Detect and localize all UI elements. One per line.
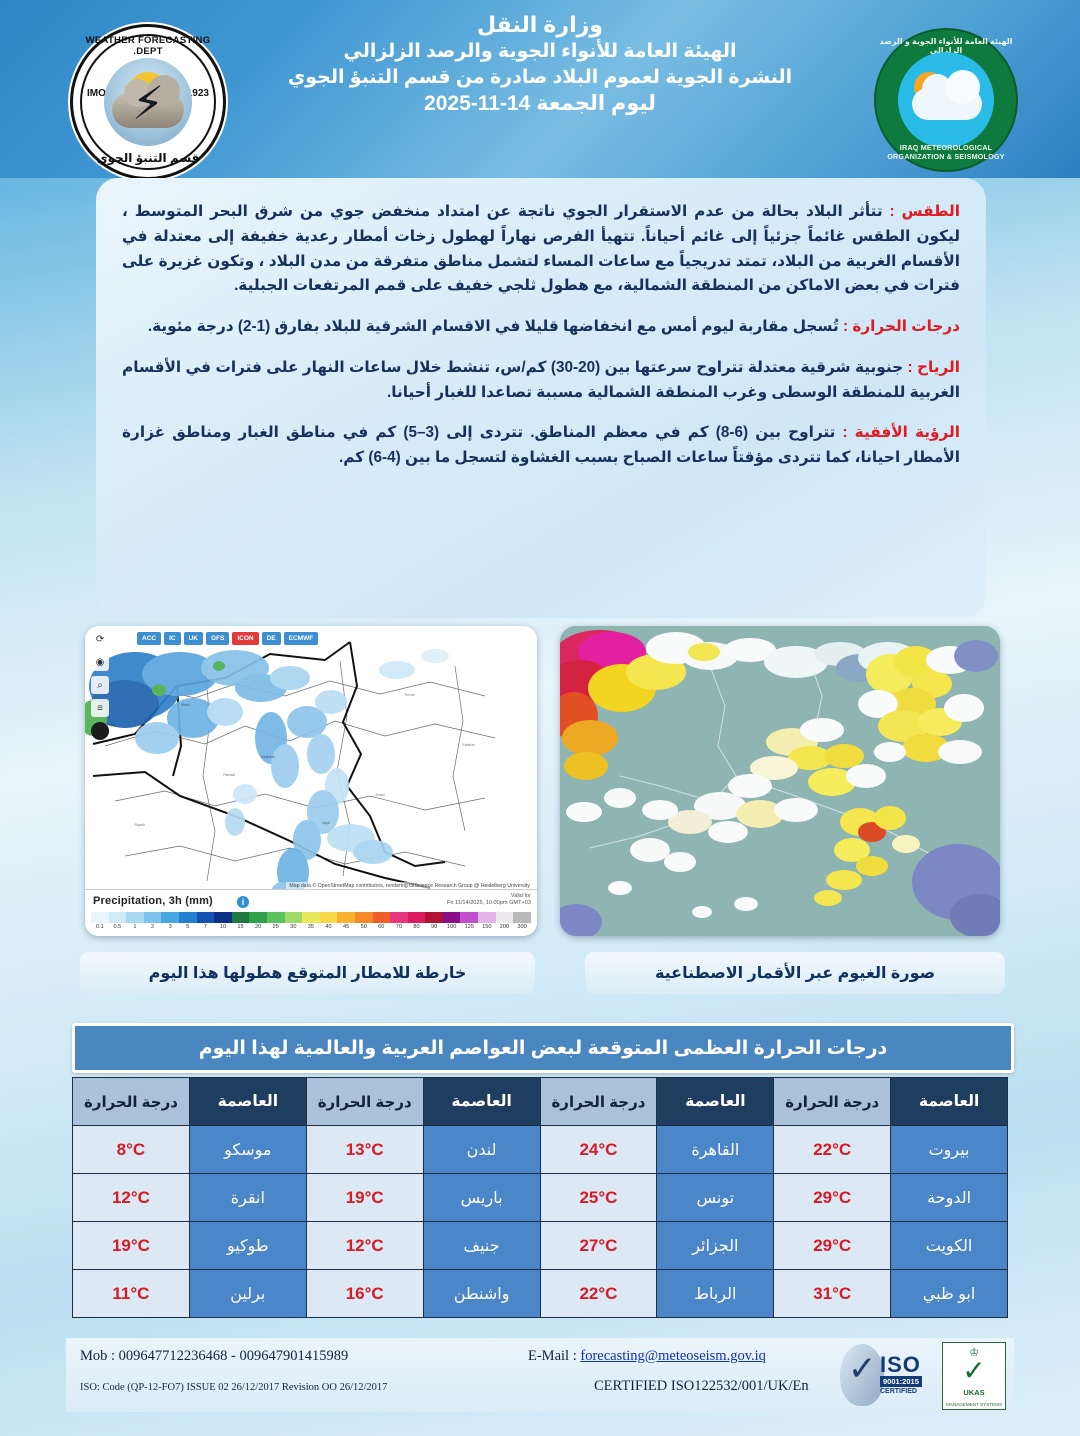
ministry-title: وزارة النقل [230, 10, 850, 39]
satellite-cloud-image[interactable] [560, 626, 1000, 936]
city-cell: ابو ظبي [891, 1270, 1008, 1318]
forecast-wind-label: الرياح : [908, 359, 961, 376]
legend-tick: 200 [496, 924, 514, 934]
refresh-icon[interactable]: ⟳ [91, 630, 109, 648]
model-button-icon[interactable]: ICON [232, 632, 258, 645]
lightning-icon: ⚡ [132, 80, 164, 126]
city-cell: الجزائر [657, 1222, 774, 1270]
model-button-ecmwf[interactable]: ECMWF [284, 632, 319, 645]
legend-tick: 1 [126, 924, 144, 934]
legend-tick: 80 [408, 924, 426, 934]
seal-arc-top-text: WEATHER FORECASTING DEPT. [73, 35, 223, 57]
svg-text:Riyadh: Riyadh [134, 823, 145, 827]
temp-cell: 16°C [306, 1270, 423, 1318]
temp-cell: 29°C [774, 1222, 891, 1270]
temp-cell: 22°C [774, 1126, 891, 1174]
page-header: WEATHER FORECASTING DEPT. IMOS 1923 ⚡ قس… [0, 0, 1080, 178]
legend-tick: 25 [267, 924, 285, 934]
header-city-2: العاصمة [657, 1078, 774, 1126]
legend-tick: 45 [337, 924, 355, 934]
iso-code-line: ISO: Code (QP-12-FO7) ISSUE 02 26/12/201… [80, 1382, 387, 1393]
contact-email-line: E-Mail : forecasting@meteoseism.gov.iq [528, 1348, 766, 1365]
legend-tick: 20 [249, 924, 267, 934]
sun-cloud-icon [898, 52, 994, 148]
city-cell: الدوحة [891, 1174, 1008, 1222]
svg-text:Mosul: Mosul [181, 703, 190, 707]
city-cell: القاهرة [657, 1126, 774, 1174]
satellite-image-graphic [560, 626, 1000, 936]
ukas-accreditation-badge: ♔ ✓ UKAS MANAGEMENT SYSTEMS [942, 1342, 1006, 1410]
city-cell: انقرة [189, 1174, 306, 1222]
temp-cell: 29°C [774, 1174, 891, 1222]
marker-icon[interactable] [91, 722, 109, 740]
iso-certification-badge: ✓ ISO 9001:2015 CERTIFIED [840, 1344, 936, 1406]
header-temp-1: درجة الحرارة [774, 1078, 891, 1126]
legend-tick: 30 [285, 924, 303, 934]
iso-badge-name: ISO [880, 1352, 921, 1378]
city-cell: واشنطن [423, 1270, 540, 1318]
city-cell: لندن [423, 1126, 540, 1174]
svg-text:Ramadi: Ramadi [223, 773, 235, 777]
svg-text:Najaf: Najaf [322, 821, 330, 825]
header-title-block: وزارة النقل الهيئة العامة للأنواء الجوية… [230, 10, 850, 118]
legend-tick: 40 [320, 924, 338, 934]
legend-tick: 5 [179, 924, 197, 934]
legend-tick: 70 [390, 924, 408, 934]
forecast-weather-label: الطقس : [890, 203, 961, 220]
satellite-image-canvas [560, 626, 1000, 936]
weather-forecasting-dept-logo: WEATHER FORECASTING DEPT. IMOS 1923 ⚡ قس… [70, 24, 226, 180]
legend-tick: 7 [197, 924, 215, 934]
svg-text:Ahvaz: Ahvaz [376, 793, 386, 797]
svg-text:Tehran: Tehran [405, 693, 415, 697]
temp-cell: 31°C [774, 1270, 891, 1318]
city-cell: طوكيو [189, 1222, 306, 1270]
forecast-visibility-label: الرؤية الأفقية : [842, 424, 960, 441]
model-button-ic[interactable]: IC [164, 632, 181, 645]
header-temp-4: درجة الحرارة [73, 1078, 190, 1126]
legend-tick: 100 [443, 924, 461, 934]
table-row: الكويت 29°C الجزائر 27°C جنيف 12°C طوكيو… [73, 1222, 1008, 1270]
header-city-4: العاصمة [189, 1078, 306, 1126]
precipitation-caption: خارطة للامطار المتوقع هطولها هذا اليوم [80, 952, 535, 994]
model-button-gfs[interactable]: GFS [206, 632, 229, 645]
temp-cell: 12°C [306, 1222, 423, 1270]
legend-scale-ticks: 0.1 0.5 1 2 3 5 7 10 15 20 25 30 35 40 4… [91, 924, 531, 934]
legend-tick: 125 [460, 924, 478, 934]
valid-time: Fri 11/14/2025, 10:00pm GMT+03 [447, 900, 531, 906]
svg-text:Esfahan: Esfahan [463, 743, 476, 747]
table-header-row: العاصمة درجة الحرارة العاصمة درجة الحرار… [73, 1078, 1008, 1126]
header-temp-2: درجة الحرارة [540, 1078, 657, 1126]
legend-color-bar [91, 912, 531, 923]
header-city-3: العاصمة [423, 1078, 540, 1126]
city-cell: الكويت [891, 1222, 1008, 1270]
city-cell: بيروت [891, 1126, 1008, 1174]
forecast-visibility-text: تتراوح بين (6-8) كم في معظم المناطق. تتر… [122, 424, 960, 466]
forecast-wind-paragraph: الرياح : جنوبية شرقية معتدلة تتراوح سرعت… [96, 356, 986, 406]
temp-cell: 27°C [540, 1222, 657, 1270]
temperature-table-banner: درجات الحرارة العظمى المتوقعة لبعض العوا… [72, 1023, 1014, 1073]
bulletin-subtitle: النشرة الجوية لعموم البلاد صادرة من قسم … [230, 65, 850, 90]
temp-cell: 24°C [540, 1126, 657, 1174]
city-cell: جنيف [423, 1222, 540, 1270]
temp-cell: 11°C [73, 1270, 190, 1318]
temp-cell: 19°C [306, 1174, 423, 1222]
capital-temperatures-table: العاصمة درجة الحرارة العاصمة درجة الحرار… [72, 1077, 1008, 1318]
precipitation-map[interactable]: AleppoMosul BaghdadNajaf BasraTehran Esf… [85, 626, 537, 936]
table-row: ابو ظبي 31°C الرباط 22°C واشنطن 16°C برل… [73, 1270, 1008, 1318]
forecast-visibility-paragraph: الرؤية الأفقية : تتراوح بين (6-8) كم في … [96, 421, 986, 471]
temp-cell: 19°C [73, 1222, 190, 1270]
map-side-toolbar[interactable]: ⟳ ◉ ⌕ ≡ [89, 630, 111, 740]
legend-tick: 3 [161, 924, 179, 934]
forecast-temperature-text: تُسجل مقاربة ليوم أمس مع انخفاضها قليلا … [148, 318, 843, 335]
legend-tick: 0.1 [91, 924, 109, 934]
email-label: E-Mail : [528, 1348, 580, 1364]
svg-text:Baghdad: Baghdad [261, 755, 275, 759]
iraq-meteorological-organization-logo: الهيئة العامة للأنواء الجوية و الرصد الز… [874, 28, 1018, 172]
legend-tick: 15 [232, 924, 250, 934]
email-link[interactable]: forecasting@meteoseism.gov.iq [580, 1348, 766, 1364]
city-cell: برلين [189, 1270, 306, 1318]
legend-title: Precipitation, 3h (mm) [93, 895, 213, 907]
precipitation-map-canvas[interactable]: AleppoMosul BaghdadNajaf BasraTehran Esf… [85, 626, 537, 936]
forecast-weather-text: تتأثر البلاد بحالة من عدم الاستقرار الجو… [122, 203, 960, 294]
table-row: بيروت 22°C القاهرة 24°C لندن 13°C موسكو … [73, 1126, 1008, 1174]
temp-cell: 22°C [540, 1270, 657, 1318]
temp-cell: 25°C [540, 1174, 657, 1222]
header-temp-3: درجة الحرارة [306, 1078, 423, 1126]
checkmark-icon: ✓ [848, 1352, 877, 1386]
legend-valid-time: Valid for Fri 11/14/2025, 10:00pm GMT+03 [447, 893, 531, 907]
valid-label: Valid for [511, 893, 531, 899]
legend-tick: 0.5 [109, 924, 127, 934]
location-icon[interactable]: ◉ [91, 653, 109, 671]
model-button-uk[interactable]: UK [184, 632, 203, 645]
contact-mobile: Mob : 009647712236468 - 009647901415989 [80, 1348, 348, 1365]
iso-certified-line: CERTIFIED ISO122532/001/UK/En [594, 1378, 809, 1395]
header-city-1: العاصمة [891, 1078, 1008, 1126]
forecast-temperature-label: درجات الحرارة : [843, 318, 960, 335]
ukas-sublabel: MANAGEMENT SYSTEMS [943, 1402, 1005, 1407]
forecast-temperature-paragraph: درجات الحرارة : تُسجل مقاربة ليوم أمس مع… [96, 315, 986, 340]
authority-title: الهيئة العامة للأنواء الجوية والرصد الزل… [230, 39, 850, 64]
iso-badge-certified: CERTIFIED [880, 1388, 917, 1395]
legend-tick: 2 [144, 924, 162, 934]
city-cell: الرباط [657, 1270, 774, 1318]
bulletin-page: WEATHER FORECASTING DEPT. IMOS 1923 ⚡ قس… [0, 0, 1080, 1436]
cloud-icon [912, 88, 982, 120]
city-cell: تونس [657, 1174, 774, 1222]
forecast-weather-paragraph: الطقس : تتأثر البلاد بحالة من عدم الاستق… [96, 200, 986, 299]
temp-cell: 13°C [306, 1126, 423, 1174]
legend-tick: 35 [302, 924, 320, 934]
model-selector-toolbar[interactable]: ECMWF DE ICON GFS UK IC ACC [137, 632, 318, 645]
legend-tick: 50 [355, 924, 373, 934]
iso-badge-standard: 9001:2015 [880, 1376, 922, 1387]
info-icon[interactable]: i [237, 896, 249, 908]
legend-tick: 10 [214, 924, 232, 934]
search-icon[interactable]: ⌕ [91, 676, 109, 694]
legend-tick: 90 [425, 924, 443, 934]
seal-english-text: IRAQ METEOROLOGICAL ORGANIZATION & SEISM… [876, 143, 1016, 161]
temp-cell: 12°C [73, 1174, 190, 1222]
satellite-caption: صورة الغيوم عبر الأقمار الاصطناعية [585, 952, 1005, 994]
temp-cell: 8°C [73, 1126, 190, 1174]
legend-tick: 60 [373, 924, 391, 934]
legend-tick: 150 [478, 924, 496, 934]
model-button-acc[interactable]: ACC [137, 632, 161, 645]
layers-icon[interactable]: ≡ [91, 699, 109, 717]
table-row: الدوحة 29°C تونس 25°C باريس 19°C انقرة 1… [73, 1174, 1008, 1222]
city-cell: موسكو [189, 1126, 306, 1174]
forecast-text-card: الطقس : تتأثر البلاد بحالة من عدم الاستق… [96, 178, 986, 618]
seal-arc-bottom-text: قسم التنبؤ الجوي [73, 151, 223, 165]
sun-cloud-lightning-icon: ⚡ [104, 58, 192, 146]
precipitation-legend: Precipitation, 3h (mm) i Valid for Fri 1… [85, 889, 537, 936]
forecast-wind-text: جنوبية شرقية معتدلة تتراوح سرعتها بين (2… [122, 359, 960, 401]
ukas-label: UKAS [943, 1388, 1005, 1397]
page-footer: Mob : 009647712236468 - 009647901415989 … [66, 1338, 1014, 1412]
model-button-de[interactable]: DE [262, 632, 281, 645]
city-cell: باريس [423, 1174, 540, 1222]
bulletin-date: ليوم الجمعة 14-11-2025 [230, 90, 850, 118]
ukas-checkmark-icon: ✓ [943, 1357, 1005, 1385]
legend-tick: 300 [513, 924, 531, 934]
